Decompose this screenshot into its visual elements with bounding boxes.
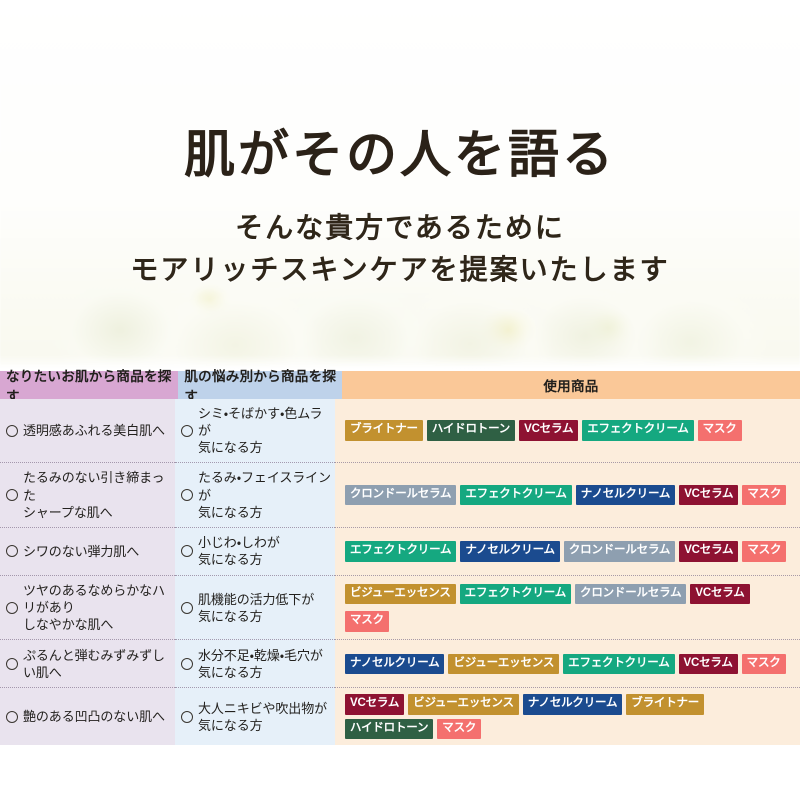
circle-bullet-icon — [181, 658, 193, 670]
goal-cell[interactable]: 艶のある凹凸のない肌へ — [0, 688, 175, 745]
circle-bullet-icon — [6, 658, 18, 670]
product-tag[interactable]: ブライトナー — [345, 420, 423, 441]
worry-label: シミ・そばかす・色ムラが気になる方 — [198, 405, 331, 456]
product-tag[interactable]: ナノセルクリーム — [523, 694, 622, 715]
product-tag[interactable]: エフェクトクリーム — [563, 654, 674, 675]
circle-bullet-icon — [181, 489, 193, 501]
hero-title: 肌がその人を語る — [0, 126, 800, 186]
worry-cell[interactable]: たるみ・フェイスラインが気になる方 — [175, 463, 335, 527]
product-finder-table: なりたいお肌から商品を探す 肌の悩み別から商品を探す 使用商品 透明感あふれる美… — [0, 371, 800, 745]
product-tag[interactable]: VCセラム — [519, 420, 578, 441]
circle-bullet-icon — [181, 545, 193, 557]
product-tag[interactable]: VCセラム — [679, 541, 738, 562]
goal-label: ぷるんと弾むみずみずしい肌へ — [23, 647, 171, 681]
goal-label: 透明感あふれる美白肌へ — [23, 422, 165, 439]
column-header-worry: 肌の悩み別から商品を探す — [178, 371, 342, 399]
goal-cell[interactable]: たるみのない引き締まったシャープな肌へ — [0, 463, 175, 527]
goal-label: たるみのない引き締まったシャープな肌へ — [23, 469, 171, 520]
circle-bullet-icon — [181, 711, 193, 723]
circle-bullet-icon — [181, 425, 193, 437]
goal-label: シワのない弾力肌へ — [23, 543, 139, 560]
product-tag[interactable]: マスク — [742, 654, 786, 675]
products-cell: クロンドールセラムエフェクトクリームナノセルクリームVCセラムマスク — [335, 463, 800, 527]
product-tag[interactable]: ブライトナー — [626, 694, 704, 715]
product-tag[interactable]: エフェクトクリーム — [345, 541, 456, 562]
product-tag[interactable]: VCセラム — [679, 654, 738, 675]
product-tag[interactable]: クロンドールセラム — [575, 584, 686, 605]
hero-subtitle-line-1: そんな貴方であるために — [0, 208, 800, 250]
product-tag[interactable]: ナノセルクリーム — [576, 485, 675, 506]
products-cell: ビジューエッセンスエフェクトクリームクロンドールセラムVCセラムマスク — [335, 576, 800, 640]
circle-bullet-icon — [6, 711, 18, 723]
worry-cell[interactable]: 肌機能の活力低下が気になる方 — [175, 576, 335, 640]
products-cell: ナノセルクリームビジューエッセンスエフェクトクリームVCセラムマスク — [335, 640, 800, 688]
worry-label: たるみ・フェイスラインが気になる方 — [198, 469, 331, 520]
goal-cell[interactable]: ぷるんと弾むみずみずしい肌へ — [0, 640, 175, 688]
worry-label: 大人ニキビや吹出物が気になる方 — [198, 700, 327, 734]
column-header-items: 使用商品 — [342, 371, 800, 399]
product-tag[interactable]: ナノセルクリーム — [345, 654, 444, 675]
product-tag[interactable]: マスク — [345, 611, 389, 632]
product-tag[interactable]: VCセラム — [679, 485, 738, 506]
product-tag[interactable]: エフェクトクリーム — [460, 584, 571, 605]
worry-label: 小じわ・しわが気になる方 — [198, 534, 280, 568]
product-tag[interactable]: マスク — [698, 420, 742, 441]
table-row: ツヤのあるなめらかなハリがありしなやかな肌へ肌機能の活力低下が気になる方ビジュー… — [0, 576, 800, 640]
product-tag[interactable]: ビジューエッセンス — [448, 654, 559, 675]
products-cell: ブライトナーハイドロトーンVCセラムエフェクトクリームマスク — [335, 399, 800, 463]
product-tag[interactable]: マスク — [742, 541, 786, 562]
product-tag[interactable]: ビジューエッセンス — [345, 584, 456, 605]
product-tag[interactable]: エフェクトクリーム — [582, 420, 693, 441]
products-cell: VCセラムビジューエッセンスナノセルクリームブライトナーハイドロトーンマスク — [335, 688, 800, 745]
circle-bullet-icon — [6, 545, 18, 557]
table-row: 透明感あふれる美白肌へシミ・そばかす・色ムラが気になる方ブライトナーハイドロトー… — [0, 399, 800, 463]
product-tag[interactable]: クロンドールセラム — [345, 485, 456, 506]
goal-cell[interactable]: シワのない弾力肌へ — [0, 528, 175, 576]
worry-cell[interactable]: 大人ニキビや吹出物が気になる方 — [175, 688, 335, 745]
product-tag[interactable]: ビジューエッセンス — [408, 694, 519, 715]
product-tag[interactable]: VCセラム — [690, 584, 749, 605]
circle-bullet-icon — [6, 425, 18, 437]
worry-cell[interactable]: 水分不足・乾燥・毛穴が気になる方 — [175, 640, 335, 688]
column-header-goal: なりたいお肌から商品を探す — [0, 371, 178, 399]
table-row: ぷるんと弾むみずみずしい肌へ水分不足・乾燥・毛穴が気になる方ナノセルクリームビジ… — [0, 640, 800, 688]
product-tag[interactable]: マスク — [437, 719, 481, 740]
product-tag[interactable]: ハイドロトーン — [345, 719, 433, 740]
product-tag[interactable]: VCセラム — [345, 694, 404, 715]
product-tag[interactable]: クロンドールセラム — [564, 541, 675, 562]
hero-subtitle-line-2: モアリッチスキンケアを提案いたします — [0, 250, 800, 292]
worry-label: 肌機能の活力低下が気になる方 — [198, 591, 314, 625]
goal-cell[interactable]: ツヤのあるなめらかなハリがありしなやかな肌へ — [0, 576, 175, 640]
circle-bullet-icon — [181, 602, 193, 614]
circle-bullet-icon — [6, 602, 18, 614]
worry-cell[interactable]: シミ・そばかす・色ムラが気になる方 — [175, 399, 335, 463]
products-cell: エフェクトクリームナノセルクリームクロンドールセラムVCセラムマスク — [335, 528, 800, 576]
goal-label: ツヤのあるなめらかなハリがありしなやかな肌へ — [23, 582, 171, 633]
circle-bullet-icon — [6, 489, 18, 501]
product-tag[interactable]: マスク — [742, 485, 786, 506]
goal-cell[interactable]: 透明感あふれる美白肌へ — [0, 399, 175, 463]
product-tag[interactable]: ハイドロトーン — [427, 420, 515, 441]
hero-text-block: 肌がその人を語る そんな貴方であるために モアリッチスキンケアを提案いたします — [0, 0, 800, 292]
worry-label: 水分不足・乾燥・毛穴が気になる方 — [198, 647, 323, 681]
table-row: 艶のある凹凸のない肌へ大人ニキビや吹出物が気になる方VCセラムビジューエッセンス… — [0, 688, 800, 745]
goal-label: 艶のある凹凸のない肌へ — [23, 708, 165, 725]
product-tag[interactable]: ナノセルクリーム — [460, 541, 559, 562]
worry-cell[interactable]: 小じわ・しわが気になる方 — [175, 528, 335, 576]
table-body: 透明感あふれる美白肌へシミ・そばかす・色ムラが気になる方ブライトナーハイドロトー… — [0, 399, 800, 745]
product-tag[interactable]: エフェクトクリーム — [460, 485, 571, 506]
hero-banner: 肌がその人を語る そんな貴方であるために モアリッチスキンケアを提案いたします — [0, 0, 800, 371]
table-row: シワのない弾力肌へ小じわ・しわが気になる方エフェクトクリームナノセルクリームクロ… — [0, 528, 800, 576]
table-row: たるみのない引き締まったシャープな肌へたるみ・フェイスラインが気になる方クロンド… — [0, 463, 800, 527]
table-header-row: なりたいお肌から商品を探す 肌の悩み別から商品を探す 使用商品 — [0, 371, 800, 399]
